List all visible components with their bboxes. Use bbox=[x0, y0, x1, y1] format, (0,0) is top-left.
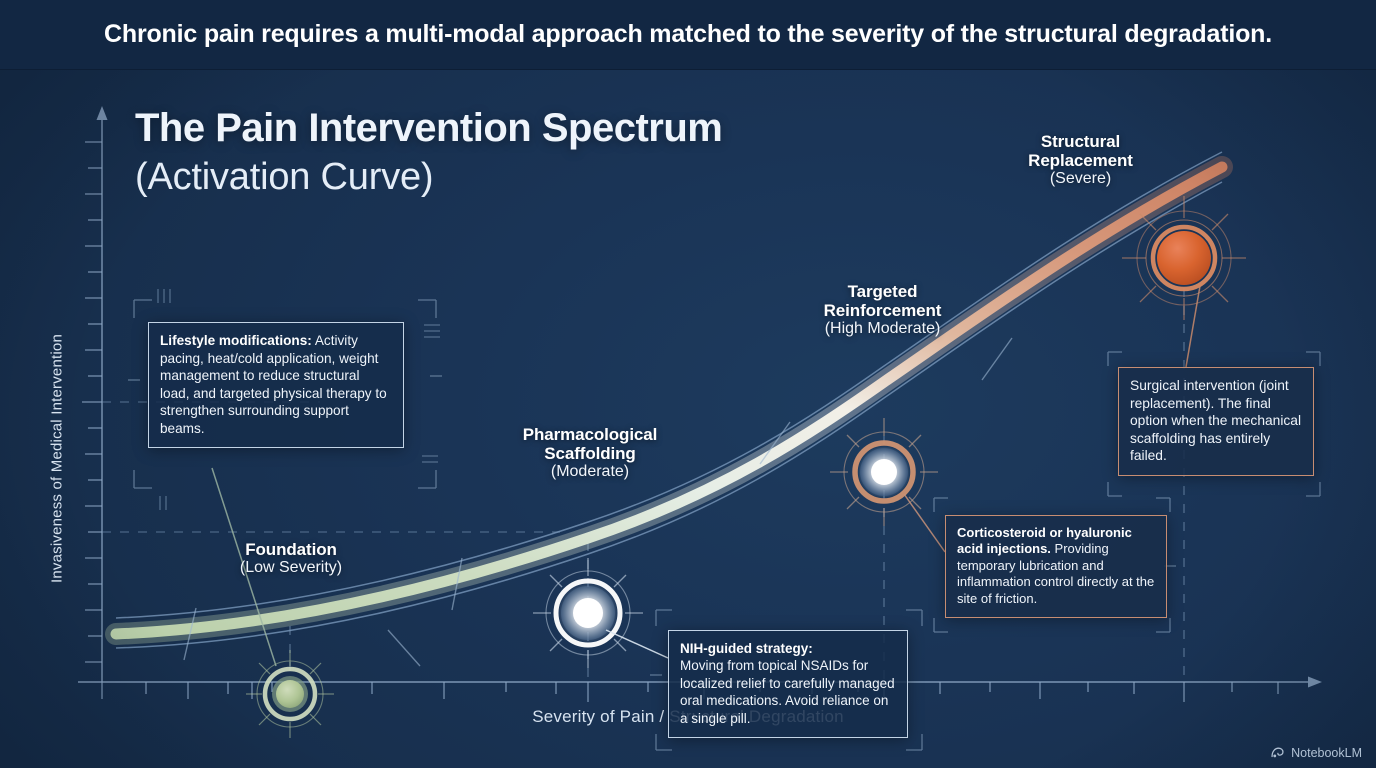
node-name-pharmacological-line1: Pharmacological bbox=[490, 425, 690, 444]
node-severity-pharmacological: (Moderate) bbox=[490, 463, 690, 481]
node-targeted-reinforcement[interactable] bbox=[830, 418, 938, 526]
callout-nih-lead: NIH-guided strategy: bbox=[680, 641, 813, 656]
node-name-targeted-line1: Targeted bbox=[785, 282, 980, 301]
chart-canvas: The Pain Intervention Spectrum (Activati… bbox=[0, 70, 1376, 768]
callout-surgical-body: Surgical intervention (joint replacement… bbox=[1130, 378, 1301, 463]
callout-surgical-intervention: Surgical intervention (joint replacement… bbox=[1118, 367, 1314, 476]
callout-corticosteroid: Corticosteroid or hyaluronic acid inject… bbox=[945, 515, 1167, 618]
chart-subtitle: (Activation Curve) bbox=[135, 158, 433, 198]
node-severity-foundation: (Low Severity) bbox=[196, 559, 386, 577]
chart-title: The Pain Intervention Spectrum bbox=[135, 108, 722, 149]
notebooklm-label: NotebookLM bbox=[1291, 746, 1362, 760]
banner-title: Chronic pain requires a multi-modal appr… bbox=[104, 20, 1272, 49]
notebooklm-logo-icon bbox=[1270, 745, 1285, 760]
y-axis-label: Invasiveness of Medical Intervention bbox=[49, 294, 66, 624]
header-banner: Chronic pain requires a multi-modal appr… bbox=[0, 0, 1376, 70]
node-name-pharmacological-line2: Scaffolding bbox=[490, 444, 690, 463]
y-axis bbox=[97, 106, 108, 682]
y-axis-ticks bbox=[82, 142, 102, 662]
node-label-targeted-reinforcement: Targeted Reinforcement (High Moderate) bbox=[785, 282, 980, 338]
infographic-root: Chronic pain requires a multi-modal appr… bbox=[0, 0, 1376, 768]
node-label-structural-replacement: Structural Replacement (Severe) bbox=[988, 132, 1173, 188]
node-label-foundation: Foundation (Low Severity) bbox=[196, 540, 386, 577]
node-structural-replacement[interactable] bbox=[1122, 196, 1246, 320]
node-label-pharmacological-scaffolding: Pharmacological Scaffolding (Moderate) bbox=[490, 425, 690, 481]
node-name-structural-line1: Structural bbox=[988, 132, 1173, 151]
node-name-foundation: Foundation bbox=[196, 540, 386, 559]
node-name-structural-line2: Replacement bbox=[988, 151, 1173, 170]
callout-nih-body: Moving from topical NSAIDs for localized… bbox=[680, 658, 895, 725]
callout-lifestyle-modifications: Lifestyle modifications: Activity pacing… bbox=[148, 322, 404, 448]
callout-nih-strategy: NIH-guided strategy:Moving from topical … bbox=[668, 630, 908, 738]
callout-lifestyle-lead: Lifestyle modifications: bbox=[160, 333, 312, 348]
node-severity-structural: (Severe) bbox=[988, 170, 1173, 188]
callout-lifestyle-body: Activity pacing, heat/cold application, … bbox=[160, 333, 387, 436]
node-name-targeted-line2: Reinforcement bbox=[785, 301, 980, 320]
node-severity-targeted: (High Moderate) bbox=[785, 320, 980, 338]
notebooklm-brand: NotebookLM bbox=[1270, 745, 1362, 760]
node-pharmacological-scaffolding[interactable] bbox=[533, 558, 643, 668]
